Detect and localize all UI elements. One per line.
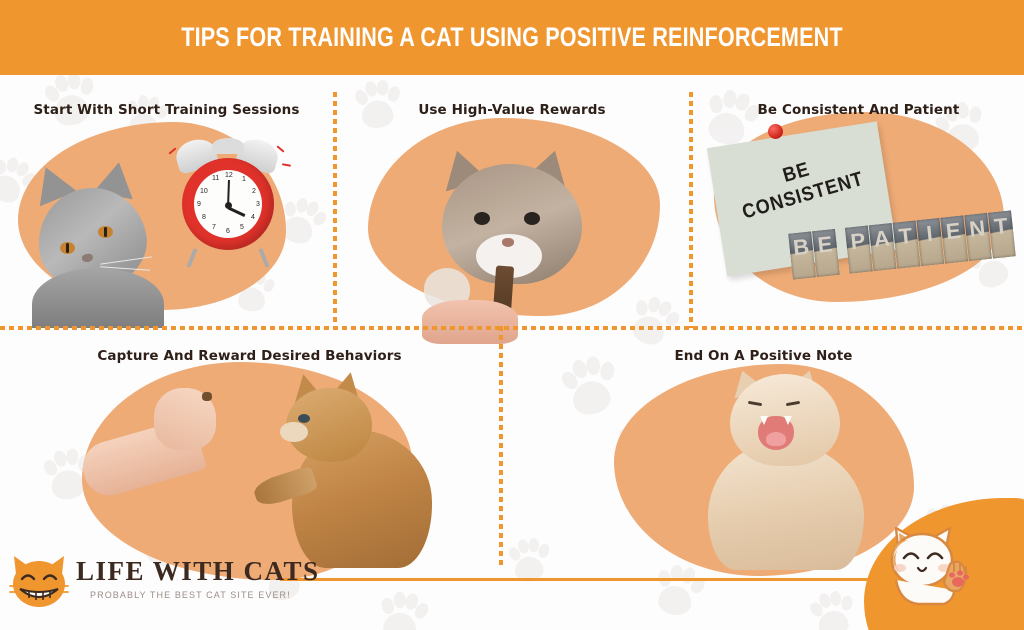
divider-vertical-top-2: [689, 92, 693, 328]
pushpin-icon: [768, 124, 783, 139]
page-title: TIPS FOR TRAINING A CAT USING POSITIVE R…: [102, 22, 921, 53]
card-title-short-sessions: Start With Short Training Sessions: [0, 102, 333, 118]
card-short-sessions: Start With Short Training Sessions: [0, 92, 333, 328]
waving-cat-mascot-icon: [876, 518, 986, 614]
footer-rule: [280, 578, 890, 581]
divider-vertical-top-1: [333, 92, 337, 328]
logo-tagline: PROBABLY THE BEST CAT SITE EVER!: [90, 590, 291, 600]
card-title-consistent-patient: Be Consistent And Patient: [693, 102, 1024, 118]
grinning-cat-face-icon: [8, 552, 70, 610]
card-high-value-rewards: Use High-Value Rewards: [337, 92, 687, 328]
divider-horizontal-middle: [0, 326, 1024, 330]
card-title-positive-note: End On A Positive Note: [503, 348, 1024, 364]
divider-vertical-bottom-1: [499, 326, 503, 566]
card-capture-reward: Capture And Reward Desired Behaviors: [0, 330, 499, 566]
card-title-capture-reward: Capture And Reward Desired Behaviors: [0, 348, 499, 364]
card-title-high-value-rewards: Use High-Value Rewards: [337, 102, 687, 118]
header-banner: TIPS FOR TRAINING A CAT USING POSITIVE R…: [0, 0, 1024, 75]
logo-wordmark: LIFE WITH CATS: [76, 556, 320, 587]
card-consistent-patient: Be Consistent And Patient: [693, 92, 1024, 328]
infographic-canvas: TIPS FOR TRAINING A CAT USING POSITIVE R…: [0, 0, 1024, 630]
